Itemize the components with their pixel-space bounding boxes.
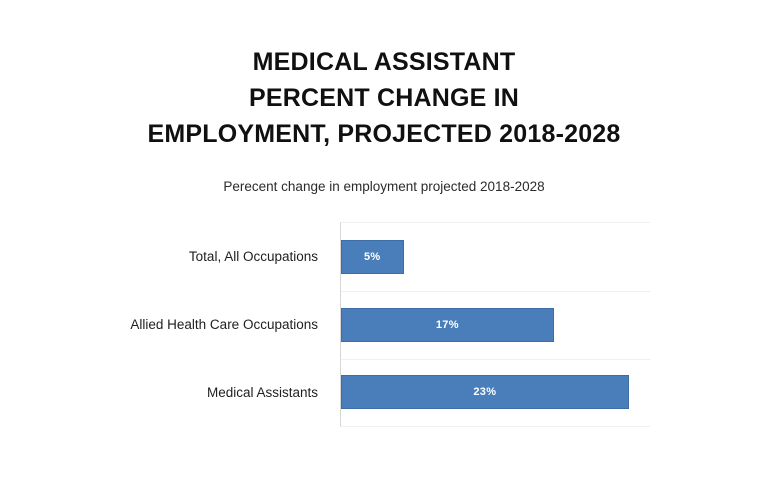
category-label: Total, All Occupations — [0, 222, 330, 290]
category-label: Medical Assistants — [0, 359, 330, 427]
bar-value-label: 5% — [364, 251, 381, 263]
category-label: Allied Health Care Occupations — [0, 290, 330, 358]
plot-area: 5% 17% 23% — [340, 222, 650, 427]
chart-title: MEDICAL ASSISTANT PERCENT CHANGE IN EMPL… — [0, 0, 768, 152]
chart-subtitle: Perecent change in employment projected … — [0, 178, 768, 196]
category-axis-labels: Total, All Occupations Allied Health Car… — [0, 222, 330, 427]
chart-figure: MEDICAL ASSISTANT PERCENT CHANGE IN EMPL… — [0, 0, 768, 492]
bar-total-all-occupations[interactable]: 5% — [341, 240, 404, 274]
plot-wrapper: Total, All Occupations Allied Health Car… — [0, 222, 768, 427]
bars-layer: 5% 17% 23% — [341, 223, 650, 426]
chart-title-line-2: PERCENT CHANGE IN — [0, 80, 768, 116]
bar-allied-health-care-occupations[interactable]: 17% — [341, 308, 554, 342]
bar-row: 23% — [341, 358, 650, 426]
bar-medical-assistants[interactable]: 23% — [341, 375, 629, 409]
chart-subtitle-block: Perecent change in employment projected … — [0, 178, 768, 196]
bar-row: 17% — [341, 291, 650, 359]
bar-value-label: 17% — [436, 319, 459, 331]
plot-inner: Total, All Occupations Allied Health Car… — [0, 222, 768, 427]
chart-title-line-1: MEDICAL ASSISTANT — [0, 44, 768, 80]
bar-row: 5% — [341, 223, 650, 291]
bar-value-label: 23% — [473, 386, 496, 398]
chart-title-line-3: EMPLOYMENT, PROJECTED 2018-2028 — [0, 116, 768, 152]
